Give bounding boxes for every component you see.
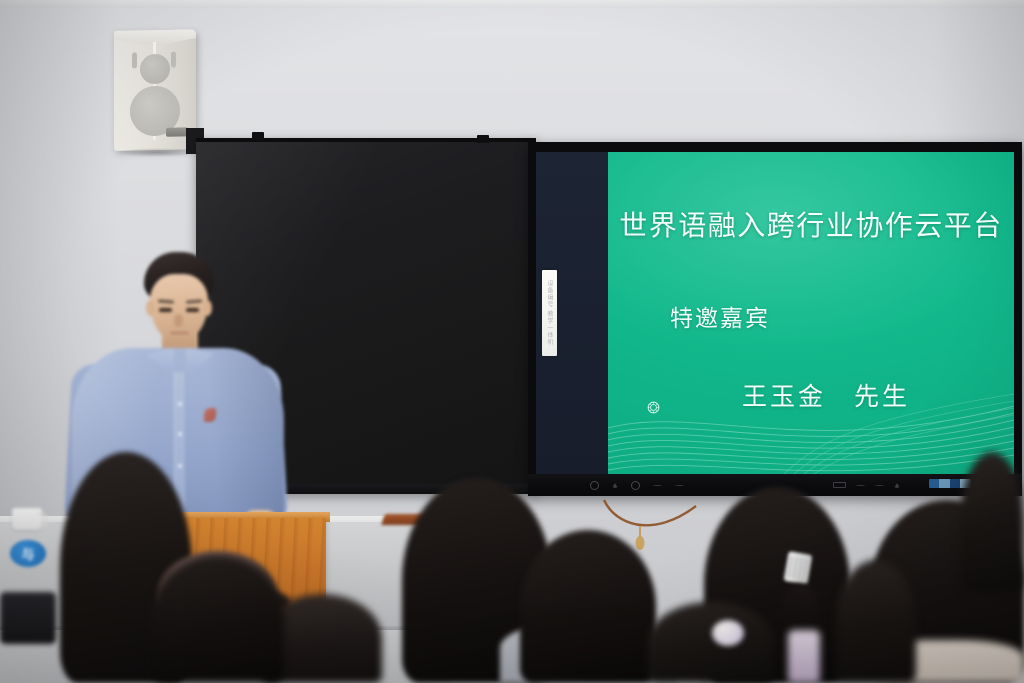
bezel-control-icons[interactable] <box>590 481 684 490</box>
play-icon[interactable] <box>612 483 618 488</box>
volume-up-icon[interactable] <box>675 485 684 486</box>
settings-icon[interactable] <box>875 485 884 486</box>
desk-logo-glyph: 与 <box>21 544 34 563</box>
audience-head-far-right <box>960 452 1024 592</box>
bezel-center-icons[interactable] <box>833 482 900 488</box>
presenter-shirt-button <box>178 432 182 436</box>
slide-title: 世界语融入跨行业协作云平台 <box>608 204 1014 244</box>
presenter-ear-left <box>146 300 155 316</box>
slide-wave-decoration <box>608 364 1014 474</box>
presenter-shirt-button <box>178 464 182 468</box>
presenter-ear-right <box>203 300 212 316</box>
brightness-icon[interactable] <box>856 485 865 486</box>
device-label-sticker: 设备编号 教学一体机 <box>542 270 557 356</box>
wall-speaker <box>114 29 196 151</box>
speaker-vent-right <box>171 52 176 68</box>
speaker-vent-left <box>132 52 137 68</box>
audience-head-right-second <box>836 560 916 683</box>
paper-cup <box>12 508 42 530</box>
presenter-eye-right <box>186 308 199 312</box>
power-icon[interactable] <box>590 481 599 490</box>
speaker-tweeter-icon <box>140 54 170 85</box>
presenter-eye-left <box>159 308 172 312</box>
blackboard-clip <box>252 132 264 140</box>
audience-head-grey-shirt <box>520 530 656 683</box>
ir-sensor-icon <box>894 483 900 488</box>
water-bottle <box>788 630 820 683</box>
input-source-icon[interactable] <box>833 482 846 488</box>
menu-icon[interactable] <box>631 481 640 490</box>
slide-subtitle: 特邀嘉宾 <box>670 299 770 333</box>
classroom-photo: 设备编号 教学一体机 世界语融入跨行业协作云平台 特邀嘉宾 王玉金 先生 <box>0 0 1024 683</box>
audience-head-with-cap <box>152 556 284 683</box>
presentation-slide: 世界语融入跨行业协作云平台 特邀嘉宾 王玉金 先生 <box>608 152 1014 474</box>
audience-head-small-front <box>648 602 774 683</box>
speaker-shadow <box>118 148 196 157</box>
blackboard-clip <box>477 135 489 143</box>
hair-scrunchie-accessory <box>712 620 744 646</box>
hair-clip-accessory <box>784 551 813 585</box>
presenter-nose <box>174 314 183 327</box>
slide-highlight <box>608 152 1014 345</box>
device-label-text: 设备编号 教学一体机 <box>545 280 554 346</box>
chair-backrest <box>0 592 56 644</box>
presenter-shirt-emblem <box>204 408 216 422</box>
presenter-shirt-button <box>178 402 182 406</box>
volume-down-icon[interactable] <box>653 485 662 486</box>
interactive-flat-panel[interactable]: 设备编号 教学一体机 世界语融入跨行业协作云平台 特邀嘉宾 王玉金 先生 <box>528 142 1022 496</box>
speaker-bracket <box>166 127 188 136</box>
ceiling-edge <box>0 0 1024 8</box>
panel-screen[interactable]: 设备编号 教学一体机 世界语融入跨行业协作云平台 特邀嘉宾 王玉金 先生 <box>536 152 1014 474</box>
desk-logo-sticker: 与 <box>10 540 46 567</box>
